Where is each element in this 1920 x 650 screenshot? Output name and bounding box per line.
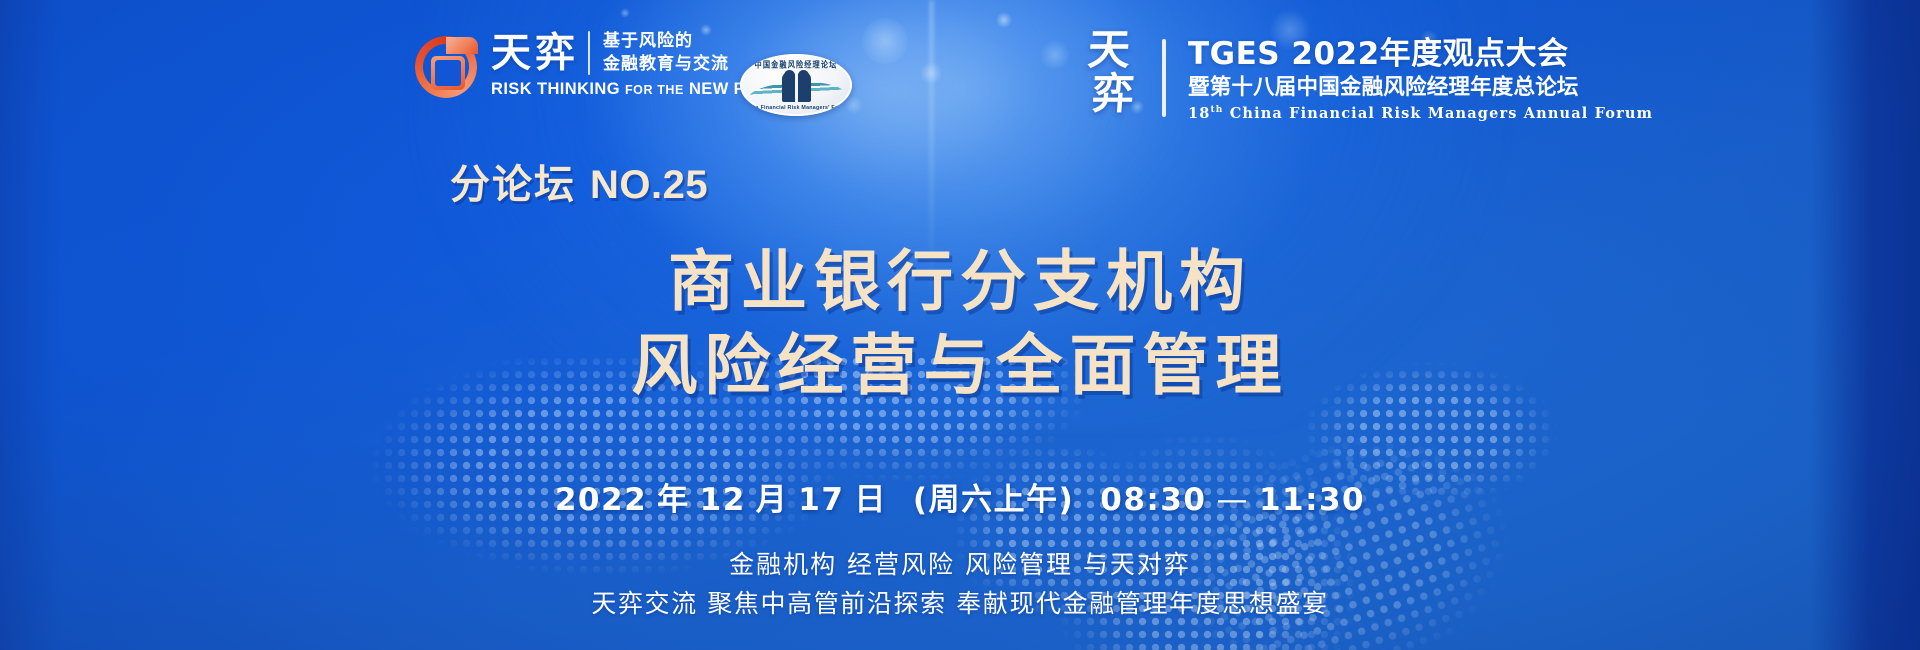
forum-keywords: 金融机构 经营风险 风险管理 与天对弈 天弈交流 聚焦中高管前沿探索 奉献现代金… <box>0 546 1920 624</box>
forum-oval-seal-icon: 中国金融风险经理论坛 China Financial Risk Managers… <box>740 54 852 116</box>
event-en-sup: th <box>1210 105 1223 115</box>
datetime-end-time: 11:30 <box>1259 482 1365 518</box>
forum-title-line-2: 风险经营与全面管理 <box>0 324 1920 408</box>
sub-forum-label: 分论坛NO.25 <box>450 152 708 210</box>
event-title-en: 18th China Financial Risk Managers Annua… <box>1188 105 1653 122</box>
datetime-day: 17 <box>798 482 844 518</box>
event-divider <box>1162 39 1166 117</box>
datetime-weekday: (周六上午) <box>913 482 1074 518</box>
datetime-month-unit: 月 <box>756 482 789 518</box>
tianyi-spiral-logo-icon <box>415 36 477 98</box>
badge-figure-gap <box>795 73 798 103</box>
forum-title: 商业银行分支机构 风险经营与全面管理 <box>0 240 1920 408</box>
sub-forum-text: 分论坛 <box>450 162 576 208</box>
event-title-sub: 暨第十八届中国金融风险经理年度总论坛 <box>1188 74 1653 102</box>
event-title-main: TGES 2022年度观点大会 <box>1188 36 1653 73</box>
datetime-year-unit: 年 <box>657 482 690 518</box>
forum-title-line-1: 商业银行分支机构 <box>0 240 1920 324</box>
badge-text-cn: 中国金融风险经理论坛 <box>740 59 852 71</box>
calligraphy-char-2: 弈 <box>1077 74 1150 114</box>
badge-head-left <box>784 70 795 81</box>
keywords-line-1: 金融机构 经营风险 风险管理 与天对弈 <box>0 546 1920 585</box>
tianyi-calligraphy-icon: 天 弈 <box>1070 30 1148 126</box>
forum-datetime: 2022年12月17日(周六上午)08:30—11:30 <box>0 474 1920 519</box>
event-en-rest: China Financial Risk Managers Annual For… <box>1224 105 1654 122</box>
tianyi-tagline-line2: 金融教育与交流 <box>603 53 729 76</box>
event-title-lockup: 天 弈 TGES 2022年度观点大会 暨第十八届中国金融风险经理年度总论坛 1… <box>1070 26 1653 130</box>
tianyi-tagline-line1: 基于风险的 <box>603 30 729 53</box>
tianyi-name-cn: 天弈 <box>491 33 579 73</box>
sub-forum-number: NO.25 <box>590 163 708 207</box>
datetime-start-time: 08:30 <box>1100 482 1206 518</box>
keywords-line-2: 天弈交流 聚焦中高管前沿探索 奉献现代金融管理年度思想盛宴 <box>0 585 1920 624</box>
badge-head-right <box>798 70 809 81</box>
datetime-dash: — <box>1216 482 1249 518</box>
banner-header: 天弈 基于风险的 金融教育与交流 RISK THINKING FOR THE N… <box>0 26 1920 122</box>
tagline-en-main: RISK THINKING <box>491 80 620 98</box>
datetime-year: 2022 <box>555 482 647 518</box>
event-en-prefix: 18 <box>1188 105 1210 122</box>
brand-divider <box>588 31 590 75</box>
badge-text-en: China Financial Risk Managers' Forum <box>740 105 852 111</box>
tagline-en-small: FOR THE <box>625 83 684 97</box>
conference-banner: 天弈 基于风险的 金融教育与交流 RISK THINKING FOR THE N… <box>0 0 1920 650</box>
datetime-day-unit: 日 <box>854 482 887 518</box>
calligraphy-char-1: 天 <box>1069 30 1150 70</box>
event-title-lines: TGES 2022年度观点大会 暨第十八届中国金融风险经理年度总论坛 18th … <box>1188 34 1653 122</box>
datetime-month: 12 <box>700 482 746 518</box>
